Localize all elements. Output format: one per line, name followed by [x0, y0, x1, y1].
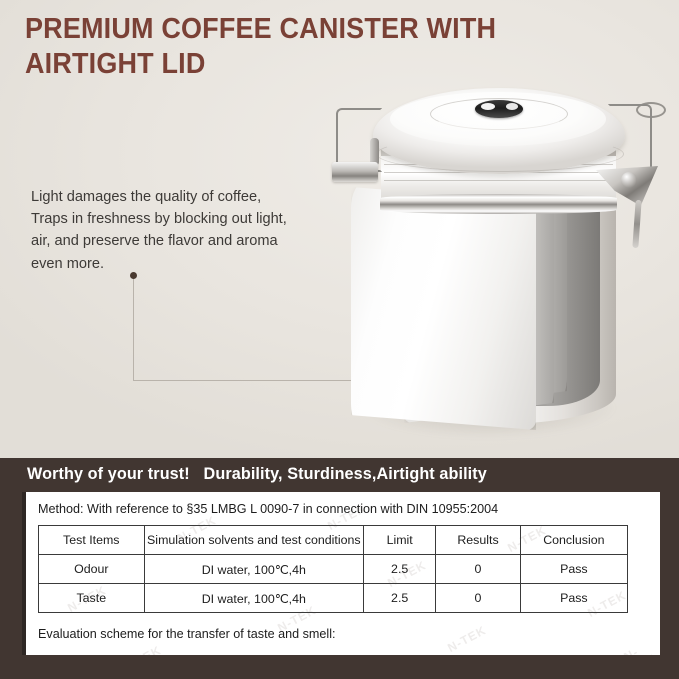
cell-conclusion: Pass — [520, 584, 627, 613]
test-report-panel: N-TEK N-TEK N-TEK N-TEK N-TEK N-TEK N-TE… — [22, 492, 660, 655]
canister-lid-rim — [376, 136, 624, 172]
canister-chrome-band — [380, 194, 617, 214]
column-header: Simulation solvents and test conditions — [144, 526, 363, 555]
coffee-canister-image — [318, 78, 663, 448]
right-clamp-tail — [632, 200, 641, 248]
column-header: Results — [436, 526, 520, 555]
feature-callout-text: Light damages the quality of coffee, Tra… — [31, 186, 299, 275]
table-row: Odour DI water, 100℃,4h 2.5 0 Pass — [39, 555, 628, 584]
cell-conclusion: Pass — [520, 555, 627, 584]
cell-results: 0 — [436, 555, 520, 584]
cell-limit: 2.5 — [364, 555, 436, 584]
table-row: Taste DI water, 100℃,4h 2.5 0 Pass — [39, 584, 628, 613]
valve-highlight-left — [481, 103, 495, 110]
cell-test-item: Taste — [39, 584, 145, 613]
canister-outer-wall-layer — [351, 182, 536, 430]
test-results-table: Test Items Simulation solvents and test … — [38, 525, 628, 613]
hero-section: PREMIUM COFFEE CANISTER WITH AIRTIGHT LI… — [0, 0, 679, 458]
product-infographic: PREMIUM COFFEE CANISTER WITH AIRTIGHT LI… — [0, 0, 679, 679]
cell-conditions: DI water, 100℃,4h — [144, 584, 363, 613]
column-header: Test Items — [39, 526, 145, 555]
column-header: Limit — [364, 526, 436, 555]
table-header-row: Test Items Simulation solvents and test … — [39, 526, 628, 555]
evaluation-scheme-line: Evaluation scheme for the transfer of ta… — [38, 627, 336, 641]
watermark-text: N-TEK — [445, 623, 488, 655]
cell-limit: 2.5 — [364, 584, 436, 613]
cell-test-item: Odour — [39, 555, 145, 584]
left-clamp-bracket — [332, 162, 378, 182]
watermark-text: N-TEK — [621, 636, 660, 655]
right-clamp-ball — [621, 172, 637, 188]
watermark-text: N-TEK — [120, 643, 163, 655]
trust-heading: Worthy of your trust! Durability, Sturdi… — [27, 465, 487, 484]
leader-dot-start — [130, 272, 137, 279]
cell-results: 0 — [436, 584, 520, 613]
valve-highlight-right — [506, 103, 518, 110]
cell-conditions: DI water, 100℃,4h — [144, 555, 363, 584]
column-header: Conclusion — [520, 526, 627, 555]
canister-ring-3 — [384, 180, 613, 181]
leader-line-vertical — [133, 276, 134, 381]
page-title: PREMIUM COFFEE CANISTER WITH AIRTIGHT LI… — [25, 12, 583, 83]
right-clamp-wire — [608, 104, 652, 174]
test-method-line: Method: With reference to §35 LMBG L 009… — [38, 502, 498, 516]
